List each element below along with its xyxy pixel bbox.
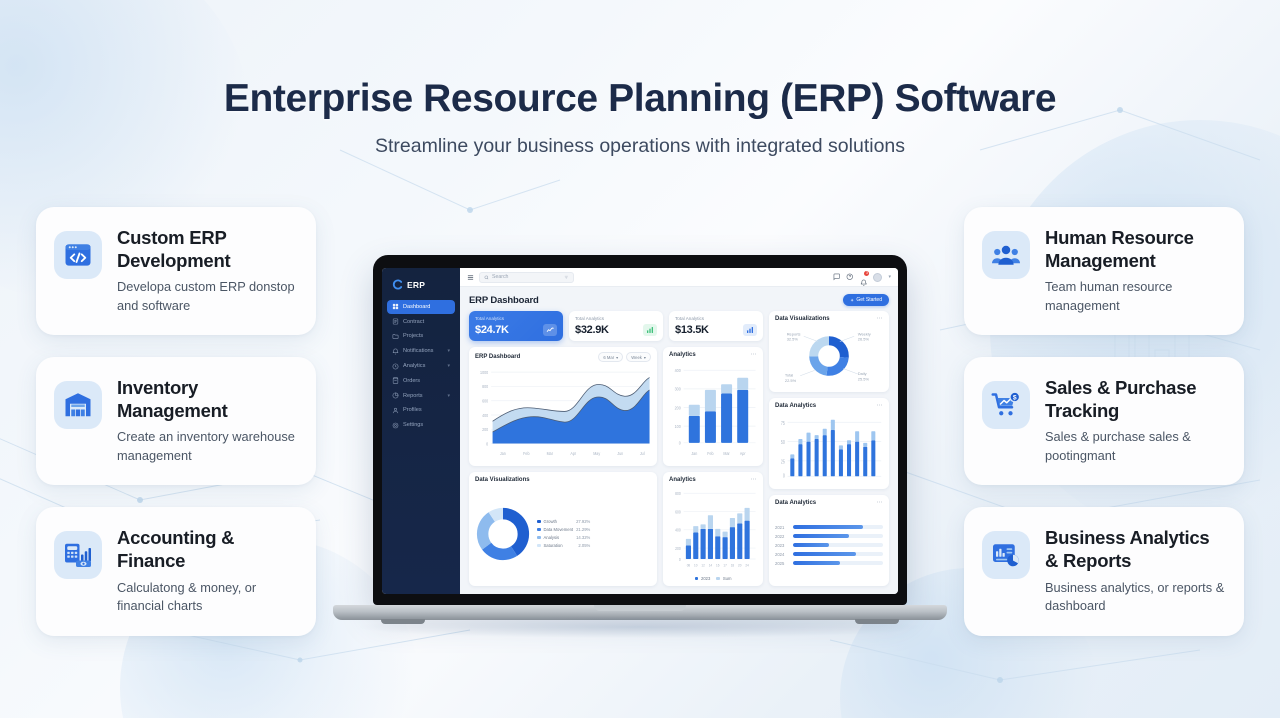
svg-text:0: 0 <box>783 473 785 479</box>
svg-text:0: 0 <box>679 440 682 446</box>
dashboard-sidebar: ERP Dashboard Contract Projects <box>382 268 460 594</box>
panel-data-visualizations-top: Data Visualizations ⋯ <box>769 311 889 392</box>
legend-item: Data Movement 21.29% <box>537 527 590 532</box>
panel-data-analytics-hbars: Data Analytics ⋯ 2021 2022 <box>769 495 889 586</box>
feature-card-sales-purchase-tracking[interactable]: $ Sales & Purchase Tracking Sales & purc… <box>964 357 1244 485</box>
panel-title: Data Visualizations <box>475 477 530 483</box>
range-dropdown[interactable]: 6 Mar ▾ <box>598 352 623 362</box>
laptop-notch <box>597 255 683 268</box>
legend-value: 2.05% <box>578 543 590 548</box>
feature-card-custom-erp-development[interactable]: Custom ERP Development Developa custom E… <box>36 207 316 335</box>
range-label: 6 Mar <box>603 355 614 360</box>
svg-text:17: 17 <box>723 563 726 567</box>
more-options-icon[interactable]: ⋯ <box>877 500 884 506</box>
sidebar-item-analytics[interactable]: Analytics ▾ <box>387 359 455 373</box>
svg-text:Mar: Mar <box>547 451 554 456</box>
avatar-icon <box>874 280 881 282</box>
svg-text:400: 400 <box>482 412 489 417</box>
hamburger-icon[interactable] <box>467 274 474 281</box>
svg-text:16: 16 <box>716 563 719 567</box>
panel-data-visualizations-bottom: Data Visualizations <box>469 472 657 586</box>
bell-icon-wrapper[interactable]: 3 <box>860 273 868 281</box>
code-window-icon <box>54 231 102 279</box>
panel-header: Analytics ⋯ <box>669 352 757 358</box>
svg-text:24: 24 <box>745 563 748 567</box>
dashboard-page-header: ERP Dashboard Get Started <box>460 287 898 311</box>
kpi-label: Total Analytics <box>475 316 557 321</box>
more-options-icon[interactable]: ⋯ <box>751 477 758 483</box>
panel-title: Analytics <box>669 352 696 358</box>
dashboard-mid-row: ERP Dashboard 6 Mar ▾ Week ▾ <box>469 347 763 466</box>
donut-label: Weekly <box>858 331 871 336</box>
donut-legend: Growth 27.92% Data Movement 21.29% <box>537 519 590 548</box>
bars-icon <box>743 324 757 336</box>
donut-chart <box>475 506 531 562</box>
legend-label: Growth <box>544 519 574 524</box>
panel-analytics-bar-chart-top: Analytics ⋯ <box>663 347 763 466</box>
sidebar-item-reports[interactable]: Reports ▾ <box>387 389 455 403</box>
donut-label: Daily <box>858 371 867 376</box>
svg-text:Jun: Jun <box>617 451 623 456</box>
kpi-value: $32.9K <box>575 324 609 336</box>
sidebar-item-label: Projects <box>403 333 446 339</box>
svg-text:0: 0 <box>486 441 489 446</box>
panel-title: ERP Dashboard <box>475 354 520 360</box>
legend-label: Saturation <box>544 543 576 548</box>
hbar-row: 2023 <box>775 543 883 548</box>
feature-title: Custom ERP Development <box>117 227 298 272</box>
sidebar-item-label: Contract <box>403 319 446 325</box>
hbar-track <box>793 552 883 556</box>
more-options-icon[interactable]: ⋯ <box>751 352 758 358</box>
feature-description: Create an inventory warehouse management <box>117 428 298 465</box>
panel-header: ERP Dashboard 6 Mar ▾ Week ▾ <box>475 352 651 362</box>
svg-text:50: 50 <box>781 440 785 446</box>
hbar-fill <box>793 552 856 556</box>
panel-header: Data Visualizations ⋯ <box>775 316 883 322</box>
legend-item: Sum <box>716 576 731 581</box>
donut-value: 22.5% <box>785 378 797 383</box>
sidebar-item-label: Dashboard <box>403 304 446 310</box>
feature-card-accounting-finance[interactable]: Accounting & Finance Calculatong & money… <box>36 507 316 635</box>
hbar-track <box>793 543 883 547</box>
feature-text: Inventory Management Create an inventory… <box>117 377 298 465</box>
svg-text:Apr: Apr <box>570 451 576 456</box>
dashboard-bottom-row-left: Data Visualizations <box>469 472 763 586</box>
svg-text:12: 12 <box>701 563 704 567</box>
bar-chart: 800 600 400 200 0 <box>669 486 757 574</box>
svg-text:18: 18 <box>731 563 734 567</box>
donut-label: Reports <box>787 331 801 336</box>
kpi-value-row: $24.7K <box>475 324 557 336</box>
horizontal-bar-chart: 2021 2022 2023 <box>775 509 883 581</box>
hbar-row: 2025 <box>775 561 883 566</box>
chart-icon <box>543 324 557 336</box>
feature-title: Accounting & Finance <box>117 527 298 572</box>
projects-icon <box>392 333 399 340</box>
svg-text:$: $ <box>1013 395 1017 402</box>
feature-title: Sales & Purchase Tracking <box>1045 377 1226 422</box>
sidebar-item-label: Settings <box>403 422 446 428</box>
svg-text:10: 10 <box>694 563 697 567</box>
c-logo-icon <box>392 279 403 290</box>
donut-value: 32.5% <box>787 337 799 342</box>
kpi-label: Total Analytics <box>575 316 657 321</box>
svg-text:Jan: Jan <box>500 451 506 456</box>
laptop-shadow <box>360 616 920 638</box>
page-title: Enterprise Resource Planning (ERP) Softw… <box>0 78 1280 120</box>
search-input[interactable]: Search <box>479 272 574 283</box>
panel-header: Data Analytics ⋯ <box>775 403 883 409</box>
brand-name: ERP <box>407 280 425 290</box>
feature-text: Accounting & Finance Calculatong & money… <box>117 527 298 615</box>
donut-value: 26.5% <box>858 337 870 342</box>
settings-icon <box>392 422 399 429</box>
shopping-cart-dollar-icon: $ <box>982 381 1030 429</box>
dashboard-content: Total Analytics $24.7K Total Analytics <box>460 311 898 594</box>
kpi-row: Total Analytics $24.7K Total Analytics <box>469 311 763 341</box>
sidebar-item-label: Analytics <box>403 363 443 369</box>
svg-text:Apr: Apr <box>740 450 746 456</box>
view-dropdown[interactable]: Week ▾ <box>626 352 651 362</box>
sidebar-item-orders[interactable]: Orders <box>387 374 455 388</box>
legend-value: 21.29% <box>576 527 590 532</box>
feature-title: Human Resource Management <box>1045 227 1226 272</box>
feature-title: Business Analytics & Reports <box>1045 527 1226 572</box>
feature-card-business-analytics-reports[interactable]: Business Analytics & Reports Business an… <box>964 507 1244 635</box>
analytics-icon <box>392 363 399 370</box>
feature-card-human-resource-management[interactable]: Human Resource Management Team human res… <box>964 207 1244 335</box>
notifications-icon <box>392 348 399 355</box>
donut-value: 25.5% <box>858 376 870 381</box>
legend-label: 2023 <box>701 576 710 581</box>
contract-icon <box>392 318 399 325</box>
sidebar-item-settings[interactable]: Settings <box>387 418 455 432</box>
legend-color-swatch <box>537 544 541 548</box>
chevron-down-icon: ▾ <box>447 363 450 369</box>
sidebar-item-label: Reports <box>403 393 443 399</box>
kpi-value: $24.7K <box>475 324 509 336</box>
view-label: Week <box>631 355 642 360</box>
hbar-label: 2024 <box>775 552 789 557</box>
panel-header: Analytics ⋯ <box>669 477 757 483</box>
feature-title: Inventory Management <box>117 377 298 422</box>
hbar-label: 2023 <box>775 543 789 548</box>
legend-color-swatch <box>537 520 541 524</box>
dashboard-left-column: Total Analytics $24.7K Total Analytics <box>469 311 763 586</box>
panel-erp-dashboard-area-chart: ERP Dashboard 6 Mar ▾ Week ▾ <box>469 347 657 466</box>
sidebar-item-contract[interactable]: Contract <box>387 315 455 329</box>
svg-text:14: 14 <box>709 563 712 567</box>
notification-badge: 3 <box>864 271 869 276</box>
svg-text:May: May <box>593 451 601 456</box>
more-options-icon[interactable]: ⋯ <box>877 316 884 322</box>
brand: ERP <box>387 277 455 300</box>
chevron-down-icon: ▾ <box>616 355 618 360</box>
chevron-down-icon: ▾ <box>447 348 450 354</box>
bar-chart: 400 300 200 100 0 <box>669 361 757 461</box>
search-placeholder: Search <box>492 274 508 280</box>
chevron-down-icon: ▾ <box>644 355 646 360</box>
legend-value: 27.92% <box>576 519 590 524</box>
calculator-money-icon <box>54 531 102 579</box>
svg-text:Jul: Jul <box>640 451 645 456</box>
feature-description: Developa custom ERP donstop and software <box>117 278 298 315</box>
legend-item: 2023 <box>695 576 711 581</box>
donut-chart: Reports 32.5% Weekly 26.5% Daily 25.5% T… <box>775 325 883 387</box>
svg-text:08: 08 <box>687 563 690 567</box>
avatar[interactable] <box>873 273 882 282</box>
message-icon[interactable] <box>833 273 841 281</box>
legend-label: Analysis <box>544 535 574 540</box>
legend-label: Sum <box>723 576 732 581</box>
laptop-mockup: ERP Dashboard Contract Projects <box>333 255 947 620</box>
kpi-value: $13.5K <box>675 324 709 336</box>
topbar-icons: 3 ▾ <box>833 273 891 282</box>
bell-icon <box>860 279 868 287</box>
legend-item: Analysis 14.32% <box>537 535 590 540</box>
more-options-icon[interactable]: ⋯ <box>877 403 884 409</box>
legend-item: Saturation 2.05% <box>537 543 590 548</box>
sidebar-item-label: Profiles <box>403 407 446 413</box>
panel-title: Analytics <box>669 477 696 483</box>
kpi-value-row: $13.5K <box>675 324 757 336</box>
svg-text:25: 25 <box>781 459 785 465</box>
dashboard-right-column: Data Visualizations ⋯ <box>769 311 889 586</box>
legend-color-swatch <box>537 536 541 540</box>
panel-title: Data Analytics <box>775 403 816 409</box>
feature-text: Human Resource Management Team human res… <box>1045 227 1226 315</box>
area-chart: 1000 800 600 400 200 0 <box>475 365 651 461</box>
reports-icon <box>392 392 399 399</box>
svg-text:200: 200 <box>482 427 489 432</box>
hbar-fill <box>793 525 863 529</box>
svg-text:400: 400 <box>675 529 681 533</box>
hbar-label: 2025 <box>775 561 789 566</box>
feature-text: Sales & Purchase Tracking Sales & purcha… <box>1045 377 1226 465</box>
hbar-label: 2022 <box>775 534 789 539</box>
kpi-card-total-analytics-1[interactable]: Total Analytics $24.7K <box>469 311 563 341</box>
bar-chart-legend: 2023 Sum <box>669 576 757 581</box>
svg-text:600: 600 <box>482 398 489 403</box>
laptop-lid: ERP Dashboard Contract Projects <box>373 255 907 605</box>
help-icon[interactable] <box>846 273 854 281</box>
kpi-card-total-analytics-3[interactable]: Total Analytics $13.5K <box>669 311 763 341</box>
bars-icon <box>643 324 657 336</box>
page-header: Enterprise Resource Planning (ERP) Softw… <box>0 0 1280 158</box>
hbar-row: 2024 <box>775 552 883 557</box>
hbar-track <box>793 561 883 565</box>
dashboard-title: ERP Dashboard <box>469 295 539 306</box>
plus-icon <box>850 298 854 302</box>
feature-cards-left: Custom ERP Development Developa custom E… <box>36 207 316 636</box>
legend-color-swatch <box>716 577 720 581</box>
feature-text: Business Analytics & Reports Business an… <box>1045 527 1226 615</box>
feature-card-inventory-management[interactable]: Inventory Management Create an inventory… <box>36 357 316 485</box>
svg-text:600: 600 <box>675 510 681 514</box>
feature-description: Sales & purchase sales & pootingmant <box>1045 428 1226 465</box>
dashboard-main: Search 3 ▾ <box>460 268 898 594</box>
svg-text:200: 200 <box>675 405 682 411</box>
hbar-fill <box>793 534 849 538</box>
page-subtitle: Streamline your business operations with… <box>0 135 1280 158</box>
legend-item: Growth 27.92% <box>537 519 590 524</box>
feature-description: Team human resource management <box>1045 278 1226 315</box>
feature-description: Business analytics, or reports & dashboa… <box>1045 579 1226 616</box>
svg-text:1000: 1000 <box>480 370 489 375</box>
svg-text:200: 200 <box>675 547 681 551</box>
sidebar-item-label: Orders <box>403 378 446 384</box>
svg-text:Feb: Feb <box>707 450 714 456</box>
hbar-track <box>793 534 883 538</box>
bar-chart: 75 50 25 0 <box>775 412 883 484</box>
svg-text:75: 75 <box>781 420 785 426</box>
donut-label: Total <box>785 373 793 378</box>
dashboard-icon <box>392 303 399 310</box>
hbar-label: 2021 <box>775 525 789 530</box>
legend-color-swatch <box>695 577 699 581</box>
profiles-icon <box>392 407 399 414</box>
get-started-button[interactable]: Get Started <box>843 294 889 306</box>
panel-data-analytics-bars: Data Analytics ⋯ 7 <box>769 398 889 489</box>
filter-icon[interactable] <box>564 275 569 280</box>
chevron-down-icon[interactable]: ▾ <box>888 274 891 280</box>
laptop-screen: ERP Dashboard Contract Projects <box>382 268 898 594</box>
feature-text: Custom ERP Development Developa custom E… <box>117 227 298 315</box>
hbar-row: 2022 <box>775 534 883 539</box>
svg-text:Mar: Mar <box>723 450 730 456</box>
panel-header: Data Analytics ⋯ <box>775 500 883 506</box>
svg-text:20: 20 <box>738 563 741 567</box>
feature-cards-right: Human Resource Management Team human res… <box>964 207 1244 636</box>
sidebar-item-label: Notifications <box>403 348 443 354</box>
donut-with-legend: Growth 27.92% Data Movement 21.29% <box>475 486 651 581</box>
legend-color-swatch <box>537 528 541 532</box>
svg-text:Feb: Feb <box>523 451 530 456</box>
svg-text:Jan: Jan <box>691 450 697 456</box>
panel-controls: 6 Mar ▾ Week ▾ <box>598 352 651 362</box>
people-group-icon <box>982 231 1030 279</box>
svg-text:400: 400 <box>675 368 682 374</box>
sidebar-item-dashboard[interactable]: Dashboard <box>387 300 455 314</box>
warehouse-icon <box>54 381 102 429</box>
svg-text:800: 800 <box>675 492 681 496</box>
legend-value: 14.32% <box>576 535 590 540</box>
panel-analytics-bar-chart-bottom: Analytics ⋯ <box>663 472 763 586</box>
sidebar-item-profiles[interactable]: Profiles <box>387 403 455 417</box>
hbar-fill <box>793 543 829 547</box>
panel-title: Data Visualizations <box>775 316 830 322</box>
report-chart-icon <box>982 531 1030 579</box>
kpi-label: Total Analytics <box>675 316 757 321</box>
sidebar-item-notifications[interactable]: Notifications ▾ <box>387 344 455 358</box>
panel-title: Data Analytics <box>775 500 816 506</box>
get-started-label: Get Started <box>856 297 882 303</box>
legend-label: Data Movement <box>544 527 574 532</box>
svg-text:0: 0 <box>679 558 681 562</box>
svg-text:800: 800 <box>482 384 489 389</box>
hbar-row: 2021 <box>775 525 883 530</box>
feature-description: Calculatong & money, or financial charts <box>117 579 298 616</box>
kpi-card-total-analytics-2[interactable]: Total Analytics $32.9K <box>569 311 663 341</box>
sidebar-item-projects[interactable]: Projects <box>387 330 455 344</box>
hbar-track <box>793 525 883 529</box>
chevron-down-icon: ▾ <box>447 393 450 399</box>
kpi-value-row: $32.9K <box>575 324 657 336</box>
panel-header: Data Visualizations <box>475 477 651 483</box>
orders-icon <box>392 377 399 384</box>
svg-text:100: 100 <box>675 423 682 429</box>
hbar-fill <box>793 561 840 565</box>
search-icon <box>484 275 489 280</box>
dashboard-topbar: Search 3 ▾ <box>460 268 898 287</box>
svg-text:300: 300 <box>675 386 682 392</box>
